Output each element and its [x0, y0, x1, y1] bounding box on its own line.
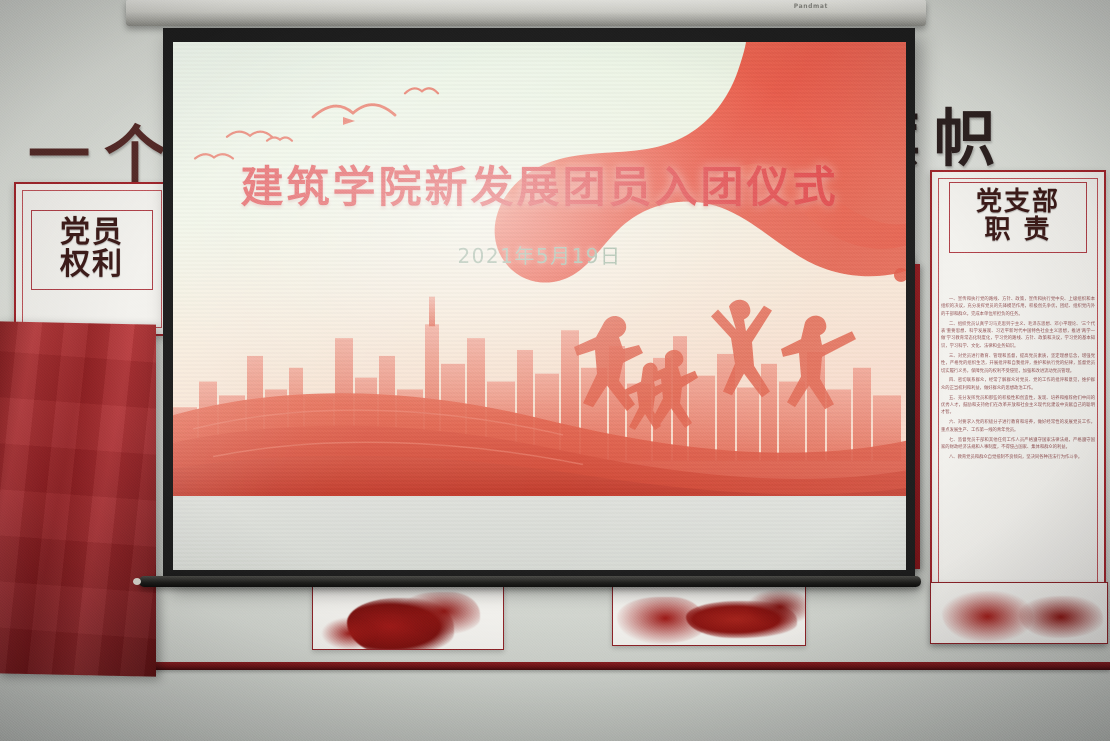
wall-red-stripe — [0, 662, 1110, 670]
projector-screen-weight-bar — [139, 576, 921, 587]
hanging-red-fabric — [0, 321, 156, 676]
poster-party-member-rights: 党员 权利 — [14, 182, 170, 336]
photo-scene: 一个支 旗帜 党员 权利 党支部 职 责 一、宣传和执行党的路线、方针、政策，宣… — [0, 0, 1110, 741]
art-poster-3 — [930, 582, 1108, 644]
poster-title-box: 党支部 职 责 — [949, 182, 1087, 253]
poster-title-box: 党员 权利 — [31, 210, 153, 290]
poster-party-branch-duties: 党支部 职 责 一、宣传和执行党的路线、方针、政策，宣传和执行党中央、上级组织和… — [930, 170, 1106, 644]
projected-slide: 建筑学院新发展团员入团仪式 2021年5月19日 — [173, 42, 906, 496]
poster-paragraph: 三、对党员进行教育、管理和监督，提高党员素质，坚定理想信念，增强党性，严格党的组… — [941, 353, 1095, 375]
wall-lower-section — [0, 670, 1110, 741]
poster-paragraph: 一、宣传和执行党的路线、方针、政策，宣传和执行党中央、上级组织和本组织的决议，充… — [941, 296, 1095, 318]
poster-paragraph: 四、密切联系群众，经常了解群众对党员、党的工作的批评和意见，维护群众的正当权利和… — [941, 377, 1095, 392]
poster-paragraph: 五、充分发挥党员和那些的积极性和创造性，发现、培养和推荐他们中间的优秀人才，鼓励… — [941, 395, 1095, 417]
poster-title-line1: 党支部 — [950, 189, 1086, 217]
poster-paragraph: 八、教育党员和群众自觉抵制不良倾向，坚决同各种违法行为作斗争。 — [941, 454, 1095, 461]
projector-screen-housing: Pandmat — [126, 0, 926, 26]
housing-brand-label: Pandmat — [794, 3, 828, 10]
poster-paragraph: 六、对要求入党的积极分子进行教育和培养，做好经常性的发展党员工作，重点发展生产、… — [941, 419, 1095, 434]
slide-title: 建筑学院新发展团员入团仪式 — [173, 153, 906, 215]
poster-title-line1: 党员 — [32, 217, 152, 249]
poster-paragraph: 二、组织党员认真学习马克思列宁主义、毛泽东思想、邓小平理论、'三个代表'重要思想… — [941, 321, 1095, 351]
slide-background-graphics — [173, 42, 906, 496]
projector-screen-frame: 建筑学院新发展团员入团仪式 2021年5月19日 — [163, 28, 915, 584]
poster-title-line2: 职 责 — [950, 217, 1086, 245]
slide-date: 2021年5月19日 — [173, 240, 906, 269]
art-poster-1 — [312, 586, 504, 650]
poster-paragraph: 七、监督党员干部和其他任何工作人员严格遵守国家法律法规，严格遵守国家的财政经济法… — [941, 437, 1095, 452]
screen-blank-area — [173, 496, 906, 570]
art-poster-2 — [612, 584, 806, 646]
poster-title-line2: 权利 — [32, 249, 152, 281]
projector-screen-surface: 建筑学院新发展团员入团仪式 2021年5月19日 — [173, 42, 906, 570]
